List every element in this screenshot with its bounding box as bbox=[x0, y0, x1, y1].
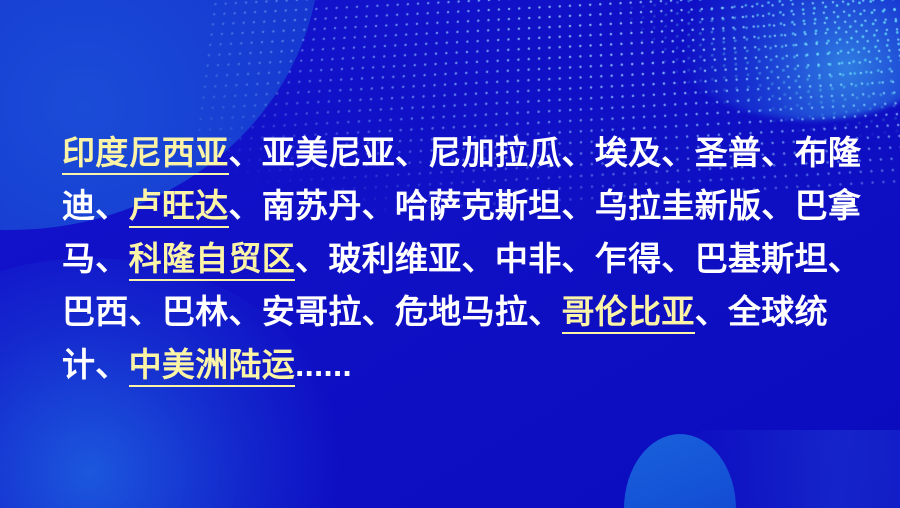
highlighted-term[interactable]: 印度尼西亚 bbox=[62, 134, 229, 175]
body-text-line: 巴西、巴林、安哥拉、危地马拉、哥伦比亚、全球统 bbox=[62, 285, 852, 338]
body-text-line: 马、科隆自贸区、玻利维亚、中非、乍得、巴基斯坦、 bbox=[62, 232, 852, 285]
highlighted-term[interactable]: 中美洲陆运 bbox=[129, 346, 296, 387]
body-text-run: ...... bbox=[295, 346, 352, 383]
body-text-run: 、亚美尼亚、尼加拉瓜、埃及、圣普、布隆 bbox=[229, 134, 862, 171]
body-text-run: 巴西、巴林、安哥拉、危地马拉、 bbox=[62, 293, 562, 330]
body-text-line: 印度尼西亚、亚美尼亚、尼加拉瓜、埃及、圣普、布隆 bbox=[62, 126, 852, 179]
body-text-run: 马、 bbox=[62, 240, 129, 277]
body-text-run: 、全球统 bbox=[695, 293, 828, 330]
slide-canvas: 印度尼西亚、亚美尼亚、尼加拉瓜、埃及、圣普、布隆迪、卢旺达、南苏丹、哈萨克斯坦、… bbox=[0, 0, 900, 508]
body-text-line: 计、中美洲陆运...... bbox=[62, 338, 852, 391]
body-text-run: 迪、 bbox=[62, 187, 129, 224]
highlighted-term[interactable]: 哥伦比亚 bbox=[562, 293, 695, 334]
body-text-run: 、南苏丹、哈萨克斯坦、乌拉圭新版、巴拿 bbox=[229, 187, 862, 224]
body-text-run: 计、 bbox=[62, 346, 129, 383]
highlighted-term[interactable]: 卢旺达 bbox=[129, 187, 229, 228]
body-text-run: 、玻利维亚、中非、乍得、巴基斯坦、 bbox=[295, 240, 861, 277]
highlighted-term[interactable]: 科隆自贸区 bbox=[129, 240, 296, 281]
body-text-block: 印度尼西亚、亚美尼亚、尼加拉瓜、埃及、圣普、布隆迪、卢旺达、南苏丹、哈萨克斯坦、… bbox=[62, 126, 852, 391]
body-text-line: 迪、卢旺达、南苏丹、哈萨克斯坦、乌拉圭新版、巴拿 bbox=[62, 179, 852, 232]
